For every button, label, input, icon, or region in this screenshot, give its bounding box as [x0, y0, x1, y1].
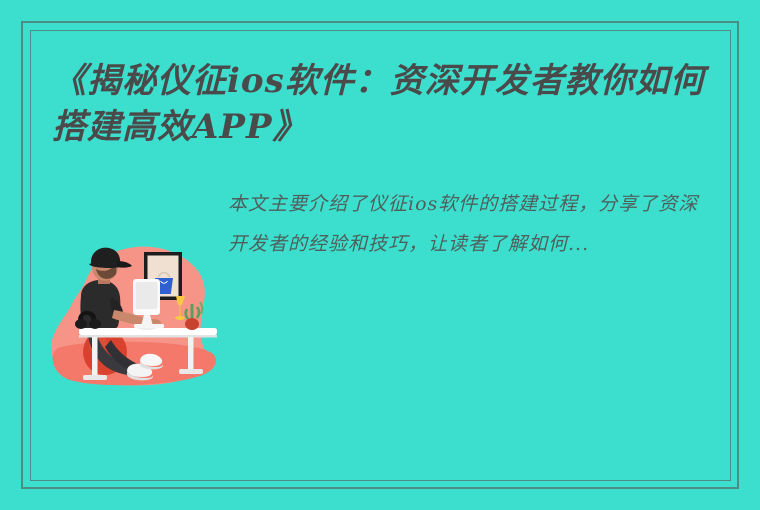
page-title: 《揭秘仪征ios软件：资深开发者教你如何搭建高效APP》 [52, 58, 712, 150]
article-cover-card: 《揭秘仪征ios软件：资深开发者教你如何搭建高效APP》 本文主要介绍了仪征io… [0, 0, 760, 510]
article-summary: 本文主要介绍了仪征ios软件的搭建过程，分享了资深开发者的经验和技巧，让读者了解… [228, 184, 718, 264]
developer-at-standing-desk-illustration [48, 236, 230, 401]
keyboard [134, 324, 164, 328]
